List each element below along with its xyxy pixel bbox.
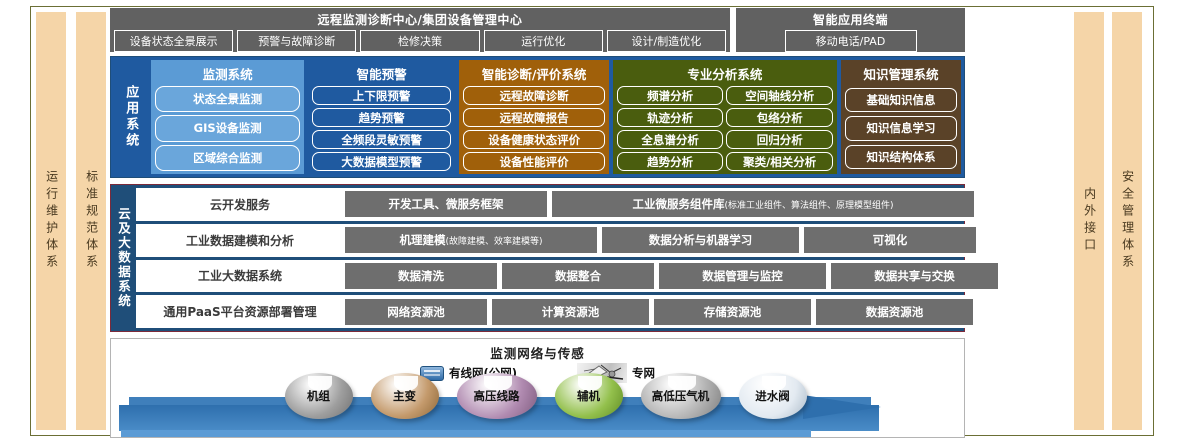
panel-professional-analysis-items: 频谱分析 空间轴线分析 轨迹分析 包络分析 全息谱分析 回归分析 趋势分析 聚类… xyxy=(617,86,833,171)
box-dev-tools-microservice-framework[interactable]: 开发工具、微服务框架 xyxy=(345,191,547,217)
panel-knowledge-management: 知识管理系统 基础知识信息 知识信息学习 知识结构体系 xyxy=(841,60,961,174)
item-status-panorama-monitoring[interactable]: 状态全景监测 xyxy=(155,86,299,112)
item-clustering-correlation-analysis[interactable]: 聚类/相关分析 xyxy=(726,152,833,171)
item-holographic-spectrum-analysis[interactable]: 全息谱分析 xyxy=(617,130,724,149)
item-trend-analysis[interactable]: 趋势分析 xyxy=(617,152,724,171)
cloud-bigdata-label-wrap: 云及大数据系统 xyxy=(114,188,133,328)
panel-professional-analysis-title: 专业分析系统 xyxy=(617,62,833,86)
panel-intelligent-warning-items: 上下限预警 趋势预警 全频段灵敏预警 大数据模型预警 xyxy=(312,86,452,171)
item-equipment-health-evaluation[interactable]: 设备健康状态评价 xyxy=(463,130,604,149)
sensing-layer-title: 监测网络与传感 xyxy=(111,343,964,362)
row-cloud-development-service: 云开发服务 开发工具、微服务框架 工业微服务组件库(标准工业组件、算法组件、原理… xyxy=(136,188,1002,221)
device-air-compressor[interactable]: 高低压气机 xyxy=(641,373,721,419)
device-auxiliary-machine-label: 辅机 xyxy=(577,388,600,404)
row-industrial-bigdata-system: 工业大数据系统 数据清洗 数据整合 数据管理与监控 数据共享与交换 xyxy=(136,260,1002,293)
device-high-voltage-line[interactable]: 高压线路 xyxy=(457,373,537,419)
architecture-diagram: 运行维护体系 标准规范体系 内外接口 安全管理体系 远程监测诊断中心/集团设备管… xyxy=(0,0,1185,442)
device-inlet-valve-label: 进水阀 xyxy=(755,388,790,404)
box-mechanism-modeling-text: 机理建模 xyxy=(399,233,445,247)
panel-intelligent-warning-title: 智能预警 xyxy=(312,62,452,86)
box-visualization[interactable]: 可视化 xyxy=(804,227,976,253)
device-inlet-valve[interactable]: 进水阀 xyxy=(739,373,807,419)
cloud-bigdata-rows: 云开发服务 开发工具、微服务框架 工业微服务组件库(标准工业组件、算法组件、原理… xyxy=(136,188,1002,328)
panel-intelligent-diagnosis-title: 智能诊断/评价系统 xyxy=(463,62,604,86)
smart-application-terminal-title: 智能应用终端 xyxy=(736,8,965,28)
row-cloud-development-service-title: 云开发服务 xyxy=(140,196,340,213)
item-remote-fault-diagnosis[interactable]: 远程故障诊断 xyxy=(463,86,604,105)
application-system-label-wrap: 应用系统 xyxy=(114,60,147,174)
item-knowledge-info-learning[interactable]: 知识信息学习 xyxy=(845,116,957,140)
box-industrial-microservice-library-note: (标准工业组件、算法组件、原理模型组件) xyxy=(724,201,893,211)
remote-monitoring-center-box: 远程监测诊断中心/集团设备管理中心 设备状态全景展示 预警与故障诊断 检修决策 … xyxy=(110,8,730,52)
header-row: 远程监测诊断中心/集团设备管理中心 设备状态全景展示 预警与故障诊断 检修决策 … xyxy=(110,8,965,52)
application-system-label: 应用系统 xyxy=(121,85,140,149)
panel-knowledge-management-title: 知识管理系统 xyxy=(845,62,957,86)
item-equipment-performance-evaluation[interactable]: 设备性能评价 xyxy=(463,152,604,171)
box-data-integration[interactable]: 数据整合 xyxy=(502,263,654,289)
device-sphere-row: 机组 主变 高压线路 辅机 高低压气机 进水阀 xyxy=(111,373,964,419)
operation-maintenance-system-label: 运行维护体系 xyxy=(44,170,57,272)
sensing-layer-block: 监测网络与传感 有线网(公网) xyxy=(110,338,965,438)
panel-knowledge-management-items: 基础知识信息 知识信息学习 知识结构体系 xyxy=(845,86,957,171)
row-industrial-bigdata-system-title: 工业大数据系统 xyxy=(140,267,340,284)
application-system-block: 应用系统 监测系统 状态全景监测 GIS设备监测 区域综合监测 智能预警 上下限… xyxy=(110,56,965,178)
row-industrial-data-modeling: 工业数据建模和分析 机理建模(故障建模、效率建模等) 数据分析与机器学习 可视化 xyxy=(136,224,1002,257)
sidebar-item-operation-maintenance-system: 运行维护体系 xyxy=(36,12,66,430)
platform-bottom-bar xyxy=(121,430,811,437)
header-cell-warning-diagnosis[interactable]: 预警与故障诊断 xyxy=(237,30,356,52)
device-high-voltage-line-label: 高压线路 xyxy=(474,388,520,404)
device-unit[interactable]: 机组 xyxy=(285,373,353,419)
device-main-transformer-label: 主变 xyxy=(393,388,416,404)
item-full-band-sensitive-warning[interactable]: 全频段灵敏预警 xyxy=(312,130,452,149)
header-cell-operation-optimization[interactable]: 运行优化 xyxy=(484,30,603,52)
box-data-management-monitoring[interactable]: 数据管理与监控 xyxy=(659,263,826,289)
box-data-resource-pool[interactable]: 数据资源池 xyxy=(816,299,973,325)
item-envelope-analysis[interactable]: 包络分析 xyxy=(726,108,833,127)
box-storage-resource-pool[interactable]: 存储资源池 xyxy=(654,299,811,325)
smart-application-terminal-box: 智能应用终端 移动电话/PAD xyxy=(736,8,965,52)
item-trajectory-analysis[interactable]: 轨迹分析 xyxy=(617,108,724,127)
panel-intelligent-diagnosis-items: 远程故障诊断 远程故障报告 设备健康状态评价 设备性能评价 xyxy=(463,86,604,171)
box-mechanism-modeling-note: (故障建模、效率建模等) xyxy=(445,237,542,247)
item-knowledge-structure-system[interactable]: 知识结构体系 xyxy=(845,145,957,169)
box-industrial-microservice-library[interactable]: 工业微服务组件库(标准工业组件、算法组件、原理模型组件) xyxy=(552,191,974,217)
item-basic-knowledge-info[interactable]: 基础知识信息 xyxy=(845,88,957,112)
main-column: 远程监测诊断中心/集团设备管理中心 设备状态全景展示 预警与故障诊断 检修决策 … xyxy=(110,6,965,436)
standard-specification-system-label: 标准规范体系 xyxy=(84,170,97,272)
item-remote-fault-report[interactable]: 远程故障报告 xyxy=(463,108,604,127)
header-side-cells: 移动电话/PAD xyxy=(736,28,965,52)
sidebar-item-internal-external-interface: 内外接口 xyxy=(1074,12,1104,430)
item-upper-lower-limit-warning[interactable]: 上下限预警 xyxy=(312,86,452,105)
box-industrial-microservice-library-text: 工业微服务组件库 xyxy=(632,197,724,211)
header-cell-mobile-pad[interactable]: 移动电话/PAD xyxy=(785,30,917,52)
header-cell-design-manufacturing[interactable]: 设计/制造优化 xyxy=(607,30,726,52)
panel-monitoring-system-title: 监测系统 xyxy=(155,62,299,86)
device-auxiliary-machine[interactable]: 辅机 xyxy=(555,373,623,419)
item-gis-equipment-monitoring[interactable]: GIS设备监测 xyxy=(155,115,299,141)
row-industrial-data-modeling-title: 工业数据建模和分析 xyxy=(140,232,340,249)
device-main-transformer[interactable]: 主变 xyxy=(371,373,439,419)
security-management-system-label: 安全管理体系 xyxy=(1120,170,1133,272)
box-data-sharing-exchange[interactable]: 数据共享与交换 xyxy=(831,263,998,289)
device-unit-label: 机组 xyxy=(307,388,330,404)
box-data-cleaning[interactable]: 数据清洗 xyxy=(345,263,497,289)
sidebar-item-security-management-system: 安全管理体系 xyxy=(1112,12,1142,430)
box-network-resource-pool[interactable]: 网络资源池 xyxy=(345,299,487,325)
panel-intelligent-diagnosis: 智能诊断/评价系统 远程故障诊断 远程故障报告 设备健康状态评价 设备性能评价 xyxy=(459,60,608,174)
panel-intelligent-warning: 智能预警 上下限预警 趋势预警 全频段灵敏预警 大数据模型预警 xyxy=(308,60,456,174)
box-compute-resource-pool[interactable]: 计算资源池 xyxy=(492,299,649,325)
cloud-bigdata-block: 云及大数据系统 云开发服务 开发工具、微服务框架 工业微服务组件库(标准工业组件… xyxy=(110,184,965,332)
box-data-analysis-machine-learning[interactable]: 数据分析与机器学习 xyxy=(602,227,799,253)
cloud-bigdata-label: 云及大数据系统 xyxy=(114,207,133,309)
panel-monitoring-system: 监测系统 状态全景监测 GIS设备监测 区域综合监测 xyxy=(151,60,303,174)
item-spatial-axis-analysis[interactable]: 空间轴线分析 xyxy=(726,86,833,105)
item-bigdata-model-warning[interactable]: 大数据模型预警 xyxy=(312,152,452,171)
header-main-cells: 设备状态全景展示 预警与故障诊断 检修决策 运行优化 设计/制造优化 xyxy=(110,28,730,52)
panel-professional-analysis: 专业分析系统 频谱分析 空间轴线分析 轨迹分析 包络分析 全息谱分析 回归分析 … xyxy=(613,60,837,174)
header-cell-maintenance-decision[interactable]: 检修决策 xyxy=(360,30,479,52)
item-spectrum-analysis[interactable]: 频谱分析 xyxy=(617,86,724,105)
sidebar-item-standard-specification-system: 标准规范体系 xyxy=(76,12,106,430)
item-regression-analysis[interactable]: 回归分析 xyxy=(726,130,833,149)
header-cell-equipment-status[interactable]: 设备状态全景展示 xyxy=(114,30,233,52)
device-air-compressor-label: 高低压气机 xyxy=(652,388,710,404)
remote-monitoring-center-title: 远程监测诊断中心/集团设备管理中心 xyxy=(110,8,730,28)
row-paas-platform-title: 通用PaaS平台资源部署管理 xyxy=(140,303,340,320)
row-paas-platform: 通用PaaS平台资源部署管理 网络资源池 计算资源池 存储资源池 数据资源池 xyxy=(136,295,1002,328)
panel-monitoring-system-items: 状态全景监测 GIS设备监测 区域综合监测 xyxy=(155,86,299,171)
item-regional-comprehensive-monitoring[interactable]: 区域综合监测 xyxy=(155,145,299,171)
box-mechanism-modeling[interactable]: 机理建模(故障建模、效率建模等) xyxy=(345,227,597,253)
item-trend-warning[interactable]: 趋势预警 xyxy=(312,108,452,127)
internal-external-interface-label: 内外接口 xyxy=(1082,187,1095,255)
